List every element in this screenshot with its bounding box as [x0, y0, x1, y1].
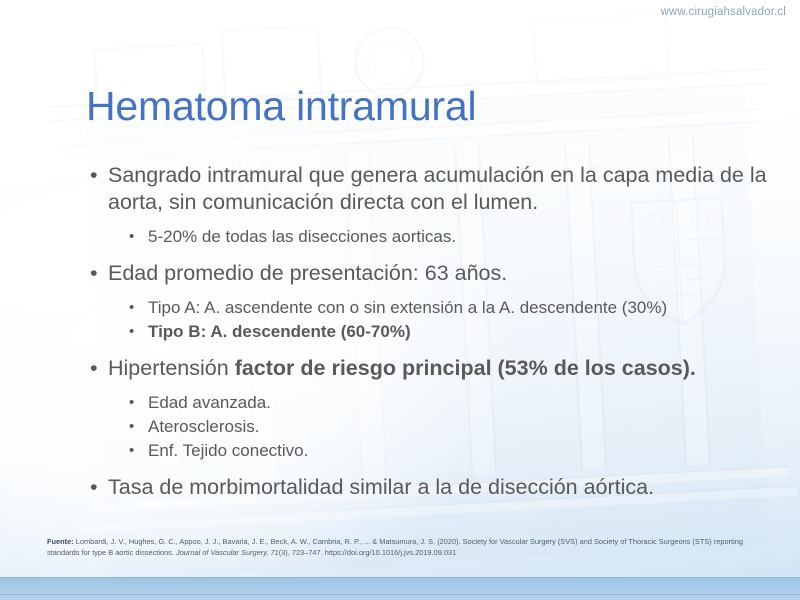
bullet-level2-tipo-b: • Tipo B: A. descendente (60-70%) — [0, 320, 800, 344]
bullet-text: Tasa de morbimortalidad similar a la de … — [108, 475, 654, 499]
bullet-level1-morbimortalidad: • Tasa de morbimortalidad similar a la d… — [0, 474, 800, 501]
bullet-text-plain: Hipertensión — [108, 356, 235, 380]
spacer — [0, 218, 800, 225]
bullet-dot-icon: • — [129, 415, 134, 439]
bullet-dot-icon: • — [129, 296, 134, 320]
spacer — [0, 463, 800, 474]
bottom-band-divider — [0, 594, 800, 595]
spacer — [0, 249, 800, 260]
bullet-level2-porcentaje-disecciones: • 5-20% de todas las disecciones aortica… — [0, 225, 800, 249]
bullet-text: Tipo B: A. descendente (60-70%) — [148, 322, 411, 341]
bullet-dot-icon: • — [90, 260, 98, 287]
bullet-level2-edad-avanzada: • Edad avanzada. — [0, 391, 800, 415]
bullet-text: 5-20% de todas las disecciones aorticas. — [148, 227, 456, 246]
spacer — [0, 289, 800, 296]
bullet-text: Enf. Tejido conectivo. — [148, 441, 308, 460]
bullet-dot-icon: • — [129, 391, 134, 415]
bullet-text: Aterosclerosis. — [148, 417, 259, 436]
bottom-color-band — [0, 577, 800, 600]
bullet-text-emphasis: factor de riesgo principal (53% de los c… — [235, 356, 696, 380]
spacer — [0, 344, 800, 355]
bullet-text: Edad avanzada. — [148, 393, 271, 412]
bullet-dot-icon: • — [90, 162, 98, 189]
slide-canvas: www.cirugiahsalvador.cl Hematoma intramu… — [0, 0, 800, 600]
bullet-text: Sangrado intramural que genera acumulaci… — [108, 163, 767, 214]
slide-title: Hematoma intramural — [86, 83, 476, 130]
citation-source-label: Fuente: — [47, 537, 74, 546]
bullet-dot-icon: • — [129, 439, 134, 463]
bullet-dot-icon: • — [90, 474, 98, 501]
bullet-level1-hipertension: • Hipertensión factor de riesgo principa… — [0, 355, 800, 382]
spacer — [0, 384, 800, 391]
bullet-text: Edad promedio de presentación: 63 años. — [108, 261, 507, 285]
bullet-dot-icon: • — [129, 320, 134, 344]
bullet-level1-edad-promedio: • Edad promedio de presentación: 63 años… — [0, 260, 800, 287]
bullet-level1-sangrado: • Sangrado intramural que genera acumula… — [0, 162, 800, 216]
bullet-level2-tejido-conectivo: • Enf. Tejido conectivo. — [0, 439, 800, 463]
bullet-dot-icon: • — [90, 355, 98, 382]
site-url-label: www.cirugiahsalvador.cl — [660, 6, 786, 18]
citation-issue-pages: (3), 723–747. https://doi.org/10.1016/j.… — [279, 548, 457, 557]
footer-citation: Fuente: Lombardi, J. V., Hughes, G. C., … — [47, 536, 772, 559]
bullet-level2-aterosclerosis: • Aterosclerosis. — [0, 415, 800, 439]
bullet-dot-icon: • — [129, 225, 134, 249]
bullet-level2-tipo-a: • Tipo A: A. ascendente con o sin extens… — [0, 296, 800, 320]
citation-journal: Journal of Vascular Surgery, 71 — [176, 548, 279, 557]
slide-body-content: • Sangrado intramural que genera acumula… — [0, 162, 800, 503]
bullet-text: Tipo A: A. ascendente con o sin extensió… — [148, 298, 667, 317]
